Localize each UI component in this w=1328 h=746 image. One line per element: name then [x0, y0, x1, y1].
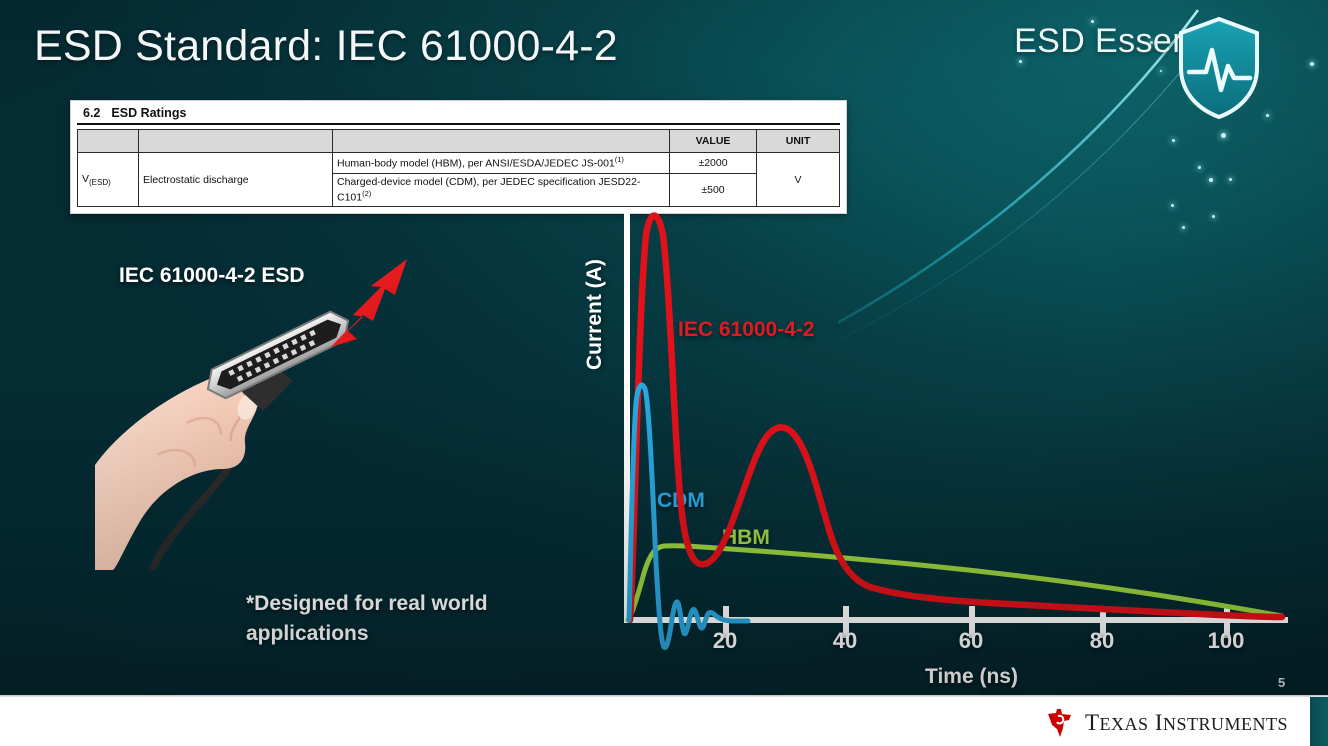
chart-axes [627, 215, 1285, 620]
cell-description-hbm: Human-body model (HBM), per ANSI/ESDA/JE… [333, 153, 670, 174]
cell-value-hbm: ±2000 [670, 153, 757, 174]
x-tick-label-100: 100 [1208, 628, 1245, 654]
ti-i: I [1155, 710, 1163, 735]
table-header-row: VALUE UNIT [78, 130, 840, 153]
datasheet-section-heading: 6.2 ESD Ratings [77, 103, 840, 125]
x-tick-label-20: 20 [713, 628, 737, 654]
esd-illustration [95, 255, 435, 570]
hand-shape [95, 370, 260, 570]
desc-cdm-footnote: (2) [362, 189, 371, 198]
texas-instruments-logo: TEXAS INSTRUMENTS [1043, 707, 1288, 739]
ti-nstruments: NSTRUMENTS [1163, 714, 1288, 734]
header-unit: UNIT [757, 130, 840, 153]
series-path-cdm [629, 385, 748, 647]
x-tick-label-40: 40 [833, 628, 857, 654]
symbol-subscript: (ESD) [89, 178, 111, 187]
footer-right-edge [1310, 697, 1328, 746]
header-value: VALUE [670, 130, 757, 153]
page-title: ESD Standard: IEC 61000-4-2 [34, 22, 618, 71]
section-number: 6.2 [83, 106, 100, 120]
section-title: ESD Ratings [111, 106, 186, 120]
header-parameter [139, 130, 333, 153]
slide-number: 5 [1278, 675, 1285, 690]
cell-symbol: V(ESD) [78, 153, 139, 207]
note-text: *Designed for real world applications [246, 589, 546, 650]
shield-icon [1176, 16, 1262, 120]
header-description [333, 130, 670, 153]
slide-background: ESD Standard: IEC 61000-4-2 ESD Essentia… [0, 0, 1328, 697]
x-tick-label-80: 80 [1090, 628, 1114, 654]
desc-hbm-footnote: (1) [615, 155, 624, 164]
symbol-main: V [82, 173, 89, 185]
esd-waveform-chart [560, 195, 1320, 695]
ti-wordmark: TEXAS INSTRUMENTS [1085, 710, 1288, 736]
brand-badge: ESD Essentials [1014, 22, 1254, 61]
series-path-iec [630, 216, 1282, 621]
header-symbol [78, 130, 139, 153]
cell-parameter: Electrostatic discharge [139, 153, 333, 207]
ti-exas: EXAS [1100, 714, 1149, 734]
desc-hbm-text: Human-body model (HBM), per ANSI/ESDA/JE… [337, 158, 615, 170]
x-tick-label-60: 60 [959, 628, 983, 654]
slide-root: ESD Standard: IEC 61000-4-2 ESD Essentia… [0, 0, 1328, 746]
table-row: V(ESD) Electrostatic discharge Human-bod… [78, 153, 840, 174]
ti-texas-icon [1043, 707, 1075, 739]
ti-t: T [1085, 710, 1100, 735]
